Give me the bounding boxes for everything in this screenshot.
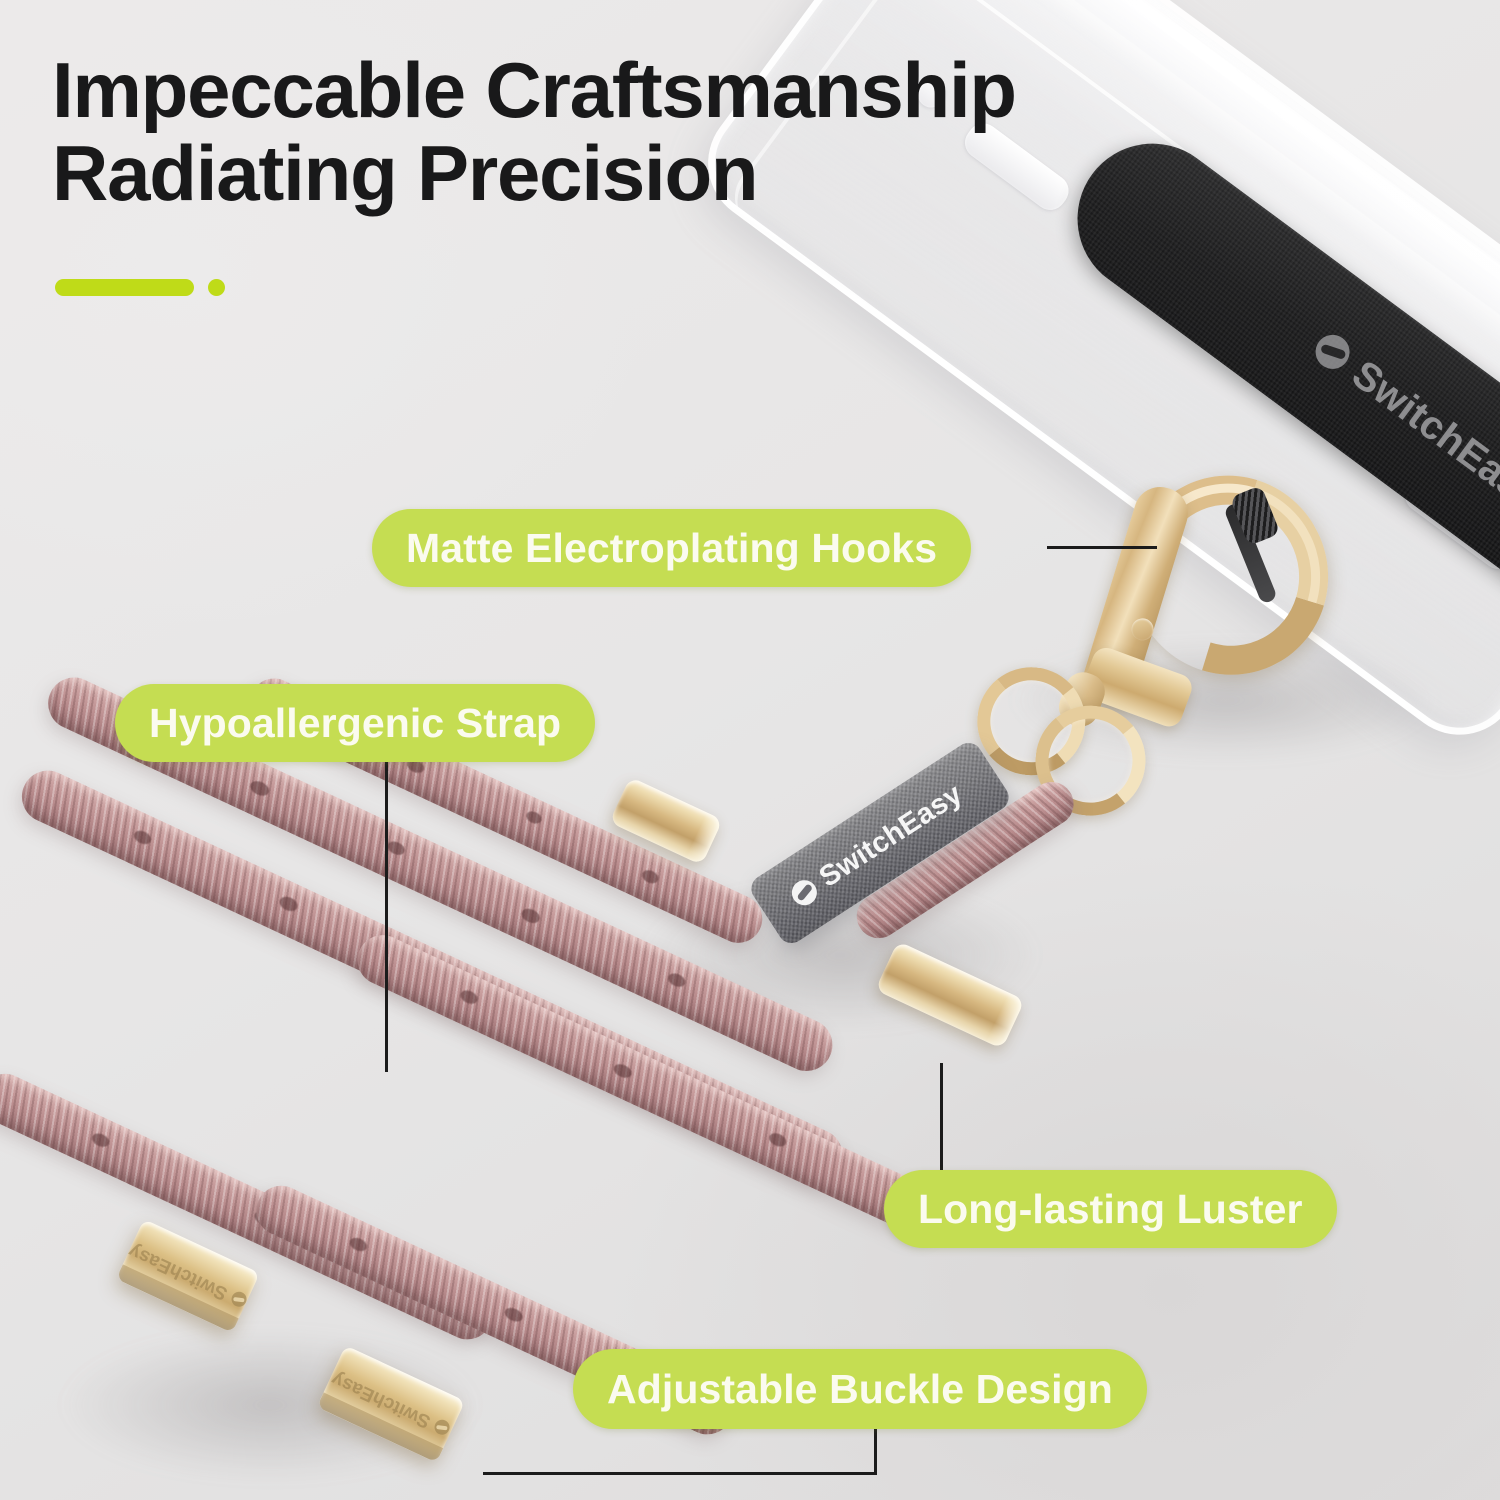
switcheasy-swoosh-icon (1309, 328, 1357, 376)
callout-hypoallergenic-strap: Hypoallergenic Strap (115, 684, 595, 762)
carabiner-hook (1060, 454, 1410, 786)
leader-line-buckle-vertical (874, 1427, 877, 1475)
adjustable-buckle-clamp-left: SwitchEasy (116, 1219, 260, 1333)
leader-line-strap (385, 760, 388, 1072)
leader-line-hooks (1047, 546, 1157, 549)
callout-adjustable-buckle-design: Adjustable Buckle Design (573, 1349, 1147, 1429)
accent-divider (55, 279, 225, 296)
page-title: Impeccable Craftsmanship Radiating Preci… (52, 52, 1232, 212)
leader-line-buckle-horizontal (483, 1472, 877, 1475)
product-feature-graphic: SwitchEasy SwitchEasy (0, 0, 1500, 1500)
accent-dot (208, 279, 225, 296)
switcheasy-swoosh-icon (787, 875, 822, 910)
leader-line-luster (940, 1063, 943, 1173)
switcheasy-swoosh-icon (432, 1418, 452, 1438)
callout-long-lasting-luster: Long-lasting Luster (884, 1170, 1337, 1248)
accent-bar (55, 279, 194, 296)
headline-line-1: Impeccable Craftsmanship (52, 52, 1232, 129)
switcheasy-swoosh-icon (229, 1290, 249, 1310)
callout-matte-electroplating-hooks: Matte Electroplating Hooks (372, 509, 971, 587)
headline-line-2: Radiating Precision (52, 135, 1232, 212)
